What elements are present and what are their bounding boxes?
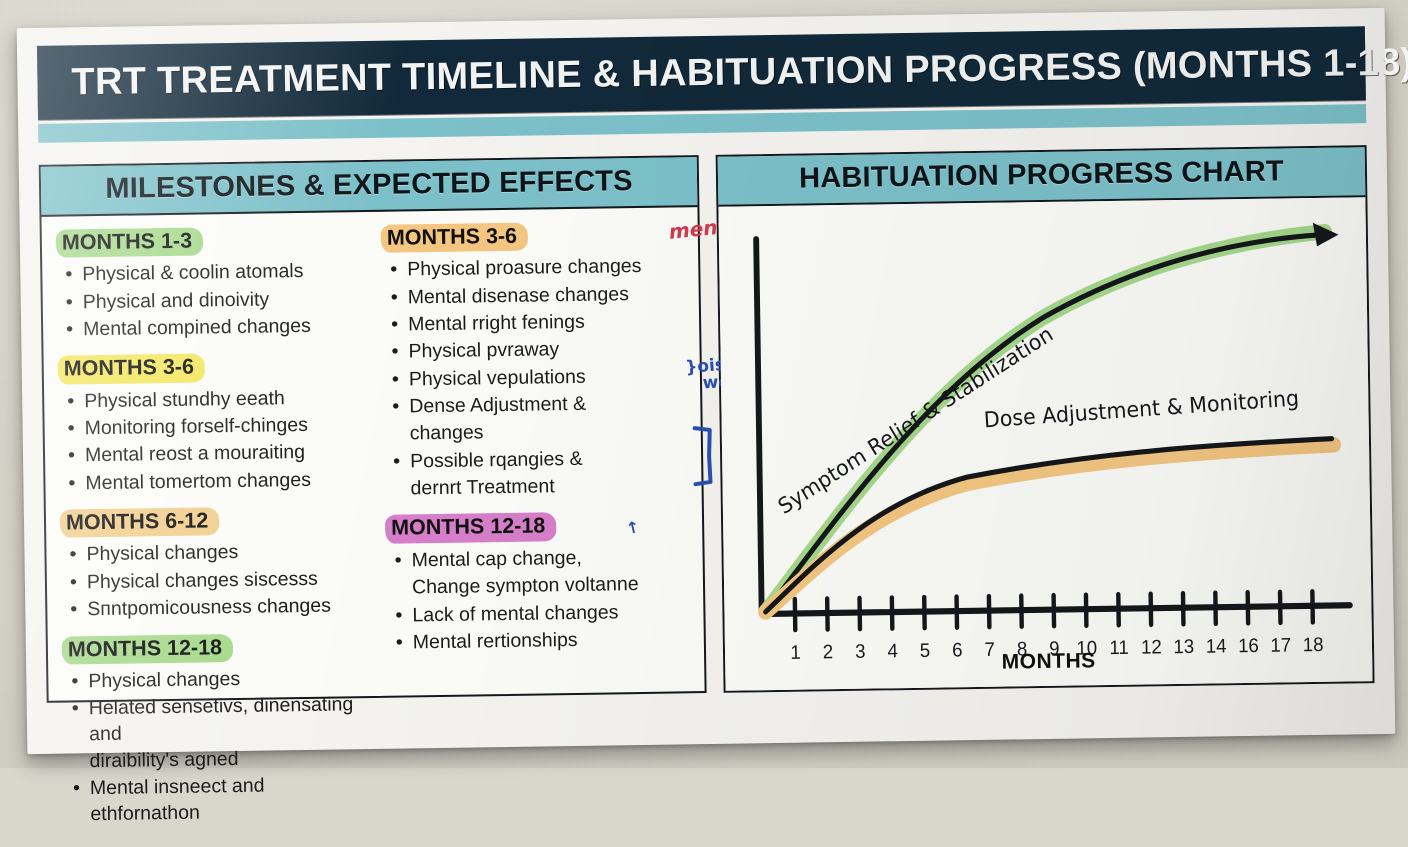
chart-heading: HABITUATION PROGRESS CHART bbox=[799, 155, 1284, 194]
milestones-panel: MILESTONES & EXPECTED EFFECTS MONTHS 1-3… bbox=[39, 155, 707, 703]
list-item: Physical and dinoivity bbox=[81, 286, 364, 316]
milestone-list-months-6-12: Physical changes Physical changes sisces… bbox=[60, 539, 368, 624]
milestone-list-months-12-18-left: Physical changes Helated sensetivs, dine… bbox=[62, 665, 371, 828]
milestone-list-months-1-3: Physical & coolin atomals Physical and d… bbox=[56, 258, 364, 343]
list-item: Mental disenase changes bbox=[406, 281, 689, 311]
list-item: Monitoring forself-chinges bbox=[82, 412, 365, 442]
list-item: Possible rqangies & bbox=[408, 445, 691, 475]
milestone-list-months-12-18-right: Mental cap change, Change symptоn voltan… bbox=[385, 544, 694, 656]
list-item: Mental compined changes bbox=[81, 313, 364, 343]
list-item: Mental insneect and ethfornathon bbox=[88, 772, 372, 827]
milestone-label-months-6-12: MONTHS 6-12 bbox=[60, 507, 220, 538]
annotation-blue-bracket-icon bbox=[690, 425, 721, 487]
poster-title: TRT TREATMENT TIMELINE & HABITUATION PRO… bbox=[71, 41, 1408, 104]
list-item: Physical vepulations bbox=[407, 363, 690, 393]
list-item: Dense Adjustment & bbox=[407, 390, 690, 420]
list-item: Lack of mental changes bbox=[410, 599, 693, 629]
milestone-group-months-1-3: MONTHS 1-3 Physical & coolin atomals Phy… bbox=[56, 225, 365, 343]
milestone-label-months-3-6: MONTHS 3-6 bbox=[58, 354, 206, 385]
list-item-continuation: Change symptоn voltanne bbox=[410, 571, 693, 601]
list-item-continuation: changes bbox=[408, 418, 691, 448]
milestone-label-months-12-18-left: MONTHS 12-18 bbox=[62, 634, 234, 665]
poster-title-band: TRT TREATMENT TIMELINE & HABITUATION PRO… bbox=[37, 26, 1366, 120]
list-item: Physical stundhy eeath bbox=[82, 385, 365, 415]
list-item: Physical pvraway bbox=[406, 336, 689, 366]
milestone-label-months-1-3: MONTHS 1-3 bbox=[56, 227, 204, 258]
list-item: Physical changes siscesss bbox=[85, 566, 368, 596]
milestones-column-left: MONTHS 1-3 Physical & coolin atomals Phy… bbox=[56, 225, 372, 840]
list-item-continuation: diraibility's agned bbox=[87, 745, 370, 775]
milestone-group-months-6-12: MONTHS 6-12 Physical changes Physical ch… bbox=[60, 505, 369, 623]
chart-plot-area: 1 2 3 4 5 6 7 8 9 10 11 12 13 bbox=[718, 197, 1372, 691]
list-item: Mental tomertom changes bbox=[83, 467, 366, 497]
milestone-list-months-3-6-right: Physical prоasure changes Mental disenas… bbox=[381, 254, 692, 503]
list-item: Mental cap change, bbox=[409, 544, 692, 574]
milestone-group-months-12-18-left: MONTHS 12-18 Physical changes Helated se… bbox=[62, 632, 372, 828]
milestone-list-months-3-6: Physical stundhy eeath Monitoring forsel… bbox=[58, 385, 367, 497]
list-item: Mental rertionships bbox=[411, 626, 694, 656]
milestone-label-months-3-6-right: MONTHS 3-6 bbox=[381, 223, 529, 254]
chart-y-axis bbox=[756, 239, 762, 614]
list-item: Mental reost a mouraiting bbox=[83, 439, 366, 469]
list-item: Physical prоasure changes bbox=[405, 254, 688, 284]
habituation-chart-panel: HABITUATION PROGRESS CHART bbox=[716, 145, 1375, 693]
habituation-progress-chart: 1 2 3 4 5 6 7 8 9 10 11 12 13 bbox=[718, 197, 1372, 691]
milestones-column-right: MONTHS 3-6 Physical prоasure changes Men… bbox=[369, 220, 697, 836]
list-item: Sпntpomicousness changes bbox=[85, 593, 368, 623]
list-item-continuation: dernrt Treatment bbox=[408, 472, 691, 502]
milestone-group-months-3-6-right: MONTHS 3-6 Physical prоasure changes Men… bbox=[381, 220, 692, 502]
list-item: Physical changes bbox=[84, 539, 367, 569]
printed-poster: TRT TREATMENT TIMELINE & HABITUATION PRO… bbox=[17, 8, 1396, 754]
list-item: Helated sensetivs, dinensating and bbox=[87, 692, 371, 747]
series-label-dose-adjustment: Dose Adjustment & Monitoring bbox=[983, 385, 1300, 433]
list-item: Physical & coolin atomals bbox=[80, 258, 363, 288]
milestone-group-months-3-6: MONTHS 3-6 Physical stundhy eeath Monito… bbox=[58, 351, 367, 496]
milestone-group-months-12-18-right: MONTHS 12-18 Mental cap change, Change s… bbox=[385, 511, 694, 656]
list-item: Physical changes bbox=[86, 665, 369, 695]
milestone-label-months-12-18-right: MONTHS 12-18 bbox=[385, 513, 557, 544]
list-item: Mental rright fenings bbox=[406, 308, 689, 338]
milestones-heading: MILESTONES & EXPECTED EFFECTS bbox=[105, 165, 633, 205]
